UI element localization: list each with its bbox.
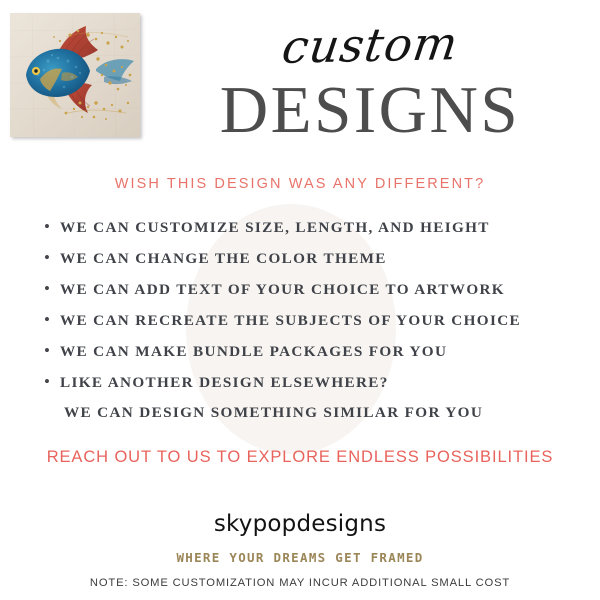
list-item-label: WE CAN CHANGE THE COLOR THEME	[60, 250, 387, 268]
list-item-label: WE CAN ADD TEXT OF YOUR CHOICE TO ARTWOR…	[60, 281, 505, 299]
bullet-point-icon: •	[44, 342, 60, 359]
bullet-point-icon: •	[44, 249, 60, 266]
list-item-label: WE CAN RECREATE THE SUBJECTS OF YOUR CHO…	[60, 312, 521, 330]
list-item-continuation: WE CAN DESIGN SOMETHING SIMILAR FOR YOU	[44, 404, 584, 435]
bullet-point-icon: •	[44, 311, 60, 328]
disclaimer-note: NOTE: SOME CUSTOMIZATION MAY INCUR ADDIT…	[0, 577, 600, 589]
list-item: • LIKE ANOTHER DESIGN ELSEWHERE?	[44, 373, 584, 404]
fish-artwork-icon	[10, 13, 140, 137]
list-item: • WE CAN CHANGE THE COLOR THEME	[44, 249, 584, 280]
subheading: WISH THIS DESIGN WAS ANY DIFFERENT?	[0, 176, 600, 192]
brand-tagline: WHERE YOUR DREAMS GET FRAMED	[0, 550, 600, 565]
list-item-label: WE CAN CUSTOMIZE SIZE, LENGTH, AND HEIGH…	[60, 219, 490, 237]
bullet-point-icon: •	[44, 218, 60, 235]
promo-graphic: custom DESIGNS WISH THIS DESIGN WAS ANY …	[0, 0, 600, 600]
list-item: • WE CAN MAKE BUNDLE PACKAGES FOR YOU	[44, 342, 584, 373]
list-item-label: WE CAN MAKE BUNDLE PACKAGES FOR YOU	[60, 343, 447, 361]
call-to-action-text: REACH OUT TO US TO EXPLORE ENDLESS POSSI…	[0, 448, 600, 467]
customization-options-list: • WE CAN CUSTOMIZE SIZE, LENGTH, AND HEI…	[44, 218, 584, 435]
brand-name: skypopdesigns	[0, 511, 600, 537]
list-item: • WE CAN RECREATE THE SUBJECTS OF YOUR C…	[44, 311, 584, 342]
bullet-point-icon: •	[44, 280, 60, 297]
list-item: • WE CAN CUSTOMIZE SIZE, LENGTH, AND HEI…	[44, 218, 584, 249]
bullet-point-icon: •	[44, 373, 60, 390]
headline-block: custom DESIGNS	[150, 22, 590, 144]
list-item-label: LIKE ANOTHER DESIGN ELSEWHERE?	[60, 374, 389, 392]
list-item: • WE CAN ADD TEXT OF YOUR CHOICE TO ARTW…	[44, 280, 584, 311]
page-title: DESIGNS	[150, 76, 590, 144]
list-item-label: WE CAN DESIGN SOMETHING SIMILAR FOR YOU	[64, 404, 483, 422]
page-title-script: custom	[279, 20, 461, 70]
fish-canvas-print[interactable]	[10, 13, 140, 137]
